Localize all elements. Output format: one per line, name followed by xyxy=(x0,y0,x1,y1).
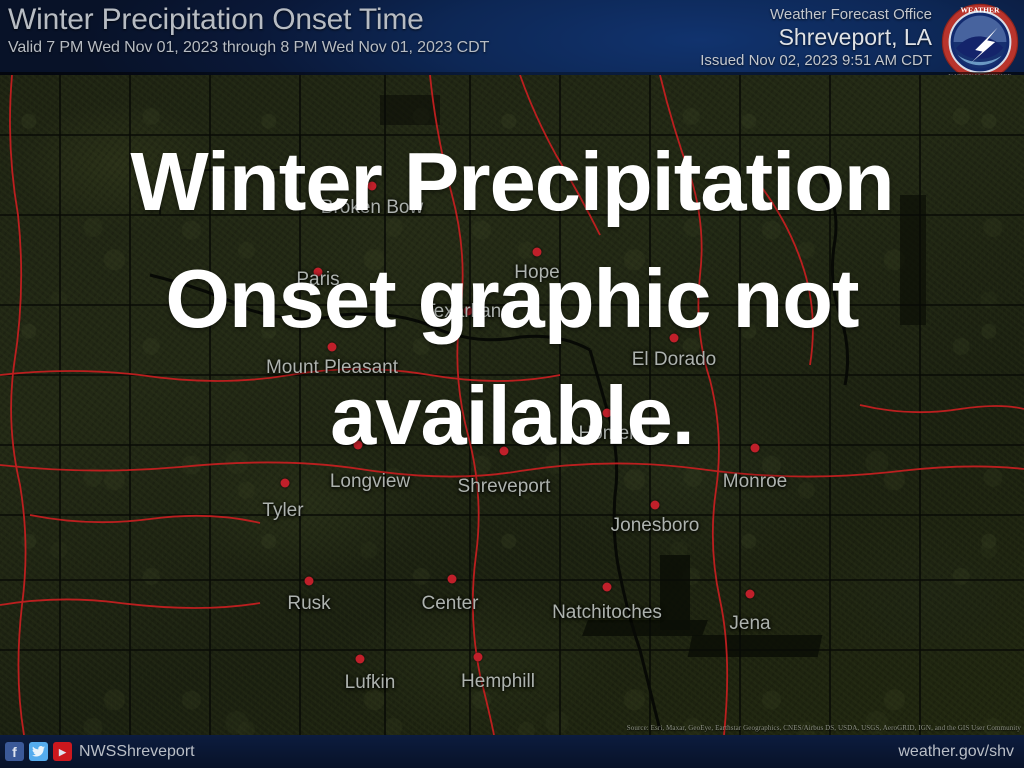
city-marker-dot xyxy=(356,655,365,664)
city-marker-dot xyxy=(746,590,755,599)
header-left-group: Winter Precipitation Onset Time Valid 7 … xyxy=(8,3,489,58)
issued-time-text: Issued Nov 02, 2023 9:51 AM CDT xyxy=(700,51,932,70)
city-label: Longview xyxy=(330,471,410,493)
city-marker-dot xyxy=(670,334,679,343)
city-marker-dot xyxy=(448,575,457,584)
city-marker-dot xyxy=(305,577,314,586)
office-name: Shreveport, LA xyxy=(700,24,932,51)
city-marker-dot xyxy=(328,343,337,352)
city-label: Lufkin xyxy=(345,672,396,694)
city-label: Jonesboro xyxy=(611,515,700,537)
youtube-play-glyph: ▶ xyxy=(59,745,66,759)
valid-time-text: Valid 7 PM Wed Nov 01, 2023 through 8 PM… xyxy=(8,38,489,58)
city-label: Monroe xyxy=(723,471,787,493)
city-label: Hope xyxy=(514,262,559,284)
twitter-bird-glyph xyxy=(32,746,45,757)
facebook-glyph: f xyxy=(12,745,17,759)
city-marker-dot xyxy=(281,479,290,488)
highway-lines xyxy=(0,75,1024,735)
city-label: Broken Bow xyxy=(321,197,423,219)
city-marker-dot xyxy=(500,447,509,456)
wfo-label: Weather Forecast Office xyxy=(700,5,932,24)
city-label: Hemphill xyxy=(461,671,535,693)
header-banner: Winter Precipitation Onset Time Valid 7 … xyxy=(0,0,1024,75)
city-marker-dot xyxy=(474,653,483,662)
facebook-icon[interactable]: f xyxy=(5,742,24,761)
city-label: Center xyxy=(421,593,478,615)
city-marker-dot xyxy=(651,501,660,510)
social-handle[interactable]: NWSShreveport xyxy=(79,743,195,761)
city-marker-dot xyxy=(368,182,377,191)
header-right-group: Weather Forecast Office Shreveport, LA I… xyxy=(700,5,932,70)
website-url[interactable]: weather.gov/shv xyxy=(898,743,1014,761)
city-label: Tyler xyxy=(262,500,303,522)
city-label: Paris xyxy=(296,269,339,291)
footer-bar: f ▶ NWSShreveport weather.gov/shv xyxy=(0,735,1024,768)
map-canvas[interactable]: Broken BowParisHopeTexarkanaEl DoradoMou… xyxy=(0,75,1024,735)
twitter-icon[interactable] xyxy=(29,742,48,761)
page-title: Winter Precipitation Onset Time xyxy=(8,3,489,37)
county-boundaries xyxy=(0,75,1024,735)
city-label: El Dorado xyxy=(632,349,717,371)
city-marker-dot xyxy=(751,444,760,453)
city-label: Natchitoches xyxy=(552,602,662,624)
nws-seal-icon: WEATHER NATIONAL SERVICE xyxy=(940,2,1020,75)
city-label: Shreveport xyxy=(458,476,551,498)
city-marker-dot xyxy=(354,441,363,450)
city-label: Jena xyxy=(729,613,770,635)
map-vector-overlay xyxy=(0,75,1024,735)
city-marker-dot xyxy=(603,409,612,418)
city-marker-dot xyxy=(533,248,542,257)
youtube-icon[interactable]: ▶ xyxy=(53,742,72,761)
map-attribution: Source: Esri, Maxar, GeoEye, Earthstar G… xyxy=(627,724,1021,733)
city-marker-dot xyxy=(603,583,612,592)
city-label: Rusk xyxy=(287,593,330,615)
city-label: Homer xyxy=(578,423,635,445)
svg-text:WEATHER: WEATHER xyxy=(960,5,1000,14)
city-label: Mount Pleasant xyxy=(266,357,398,379)
city-label: Texarkana xyxy=(424,301,512,323)
weather-graphic: Winter Precipitation Onset Time Valid 7 … xyxy=(0,0,1024,768)
